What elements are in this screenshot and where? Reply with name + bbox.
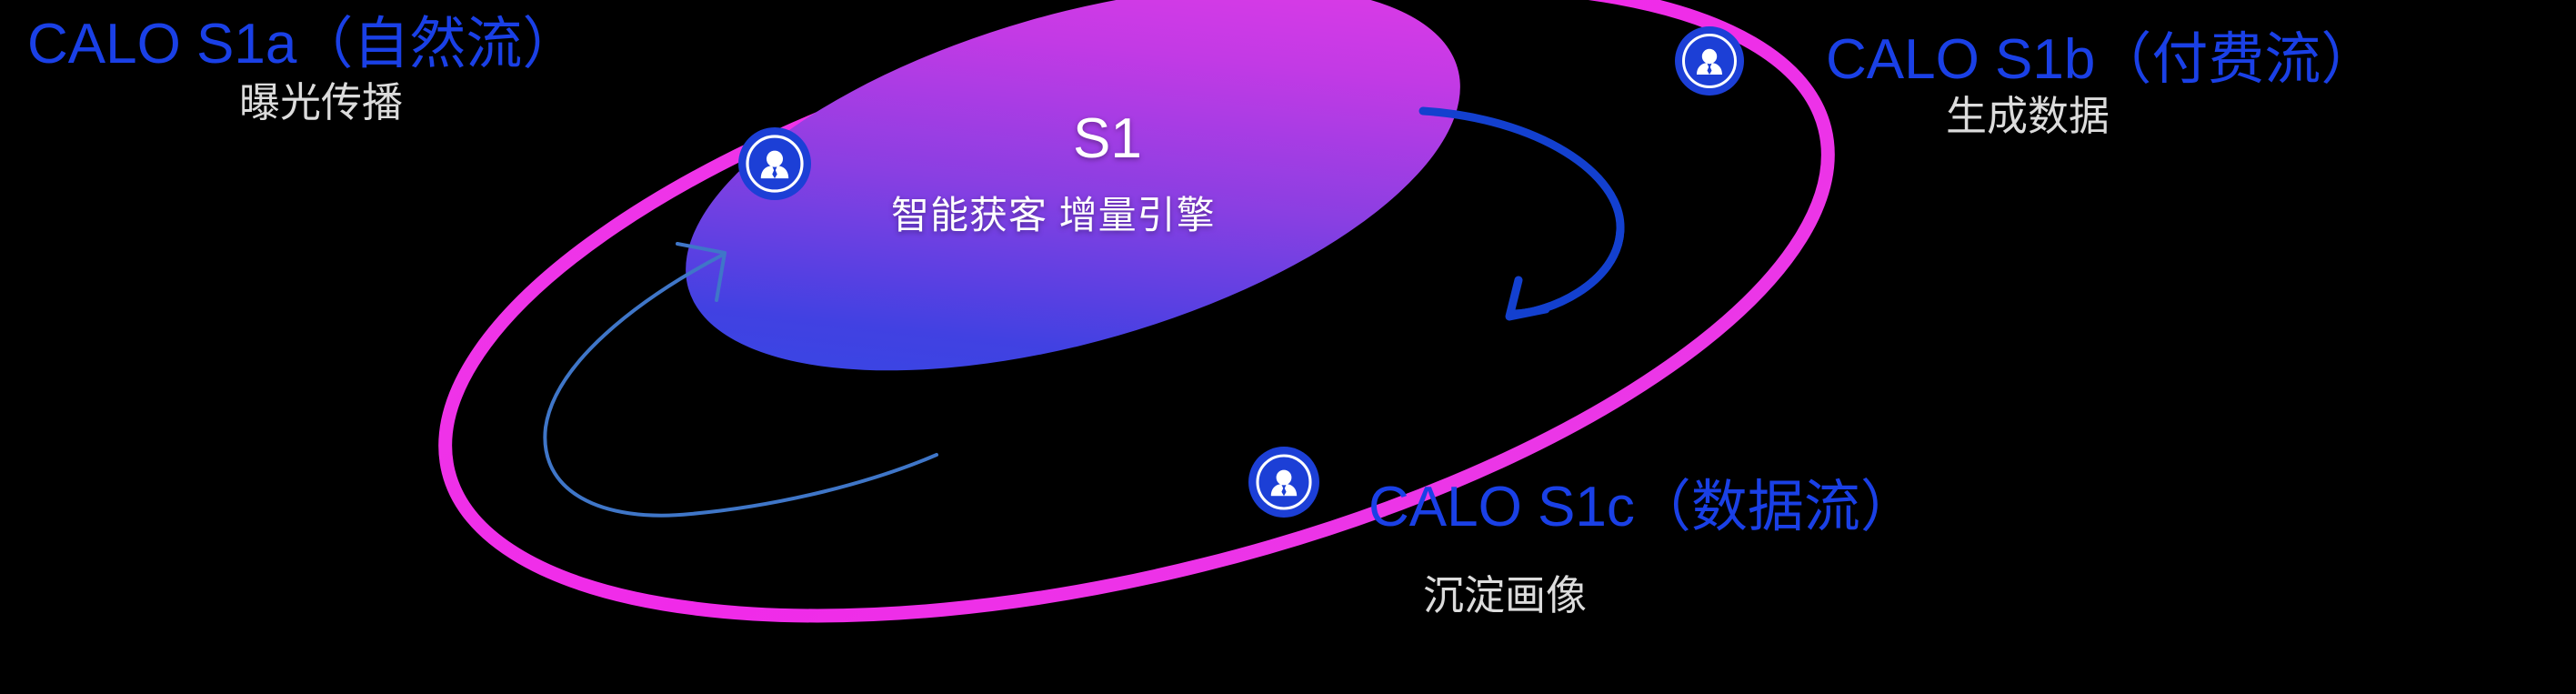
node-badge-s1c[interactable]	[1248, 447, 1319, 518]
node-subtitle-s1b: 生成数据	[1946, 96, 2110, 136]
node-subtitle-s1a: 曝光传播	[239, 82, 403, 123]
node-badge-s1a[interactable]	[738, 127, 811, 200]
diagram-canvas: CALO S1a（自然流） 曝光传播 CALO S1b（付费流） 生成数据 CA…	[0, 0, 2576, 694]
core-title: S1	[1073, 111, 1142, 167]
node-badge-s1b[interactable]	[1675, 26, 1744, 96]
node-subtitle-s1c: 沉淀画像	[1423, 575, 1587, 616]
node-title-s1c: CALO S1c（数据流）	[1368, 479, 1917, 536]
node-title-s1a: CALO S1a（自然流）	[27, 16, 578, 73]
core-subtitle: 智能获客 增量引擎	[891, 196, 1216, 235]
node-title-s1b: CALO S1b（付费流）	[1826, 32, 2377, 88]
